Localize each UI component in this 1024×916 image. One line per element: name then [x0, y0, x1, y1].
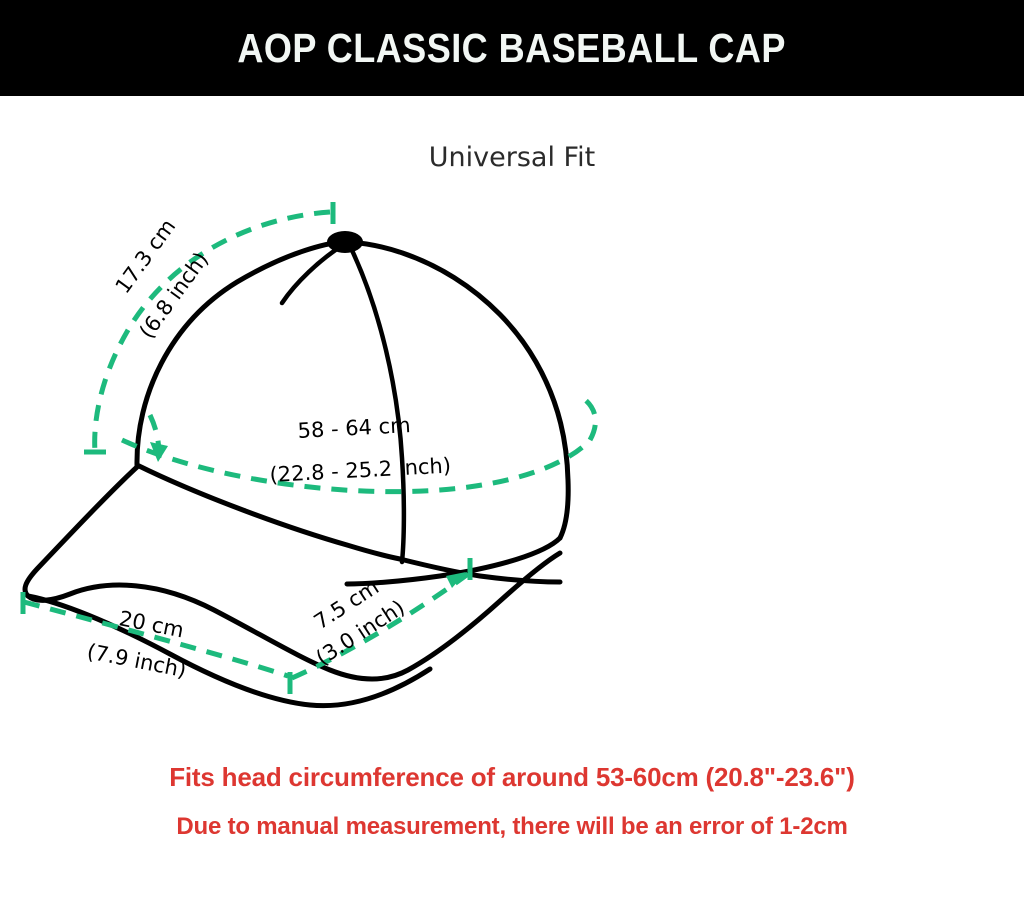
brim-length-inch-label-2: (7.9 inch) [85, 639, 188, 682]
circumference-inch-label: (22.8 - 25.2 inch) [269, 454, 452, 487]
brim-length-cm-label: 20 cm [117, 606, 186, 642]
fit-note-primary: Fits head circumference of around 53-60c… [0, 762, 1024, 793]
cap-top-button [327, 231, 363, 253]
cap-crown-back-outline [349, 242, 568, 538]
crown-height-arc [95, 212, 330, 452]
circumference-ellipse-back [580, 396, 595, 440]
header-banner: AOP CLASSIC BASEBALL CAP [0, 0, 1024, 96]
circumference-cm-label: 58 - 64 cm [297, 413, 411, 443]
cap-diagram: 17.3 cm (6.8 inch) 58 - 64 cm (22.8 - 25… [0, 190, 1024, 720]
cap-side-seam [349, 244, 404, 562]
fit-subtitle: Universal Fit [429, 142, 595, 173]
page-title: AOP CLASSIC BASEBALL CAP [238, 25, 786, 72]
dimension-head-circumference: 58 - 64 cm (22.8 - 25.2 inch) [122, 396, 595, 492]
subtitle-row: Universal Fit [0, 142, 1024, 173]
footer-notes: Fits head circumference of around 53-60c… [0, 762, 1024, 841]
fit-note-secondary: Due to manual measurement, there will be… [0, 813, 1024, 841]
dimension-crown-height: 17.3 cm (6.8 inch) [84, 202, 333, 462]
